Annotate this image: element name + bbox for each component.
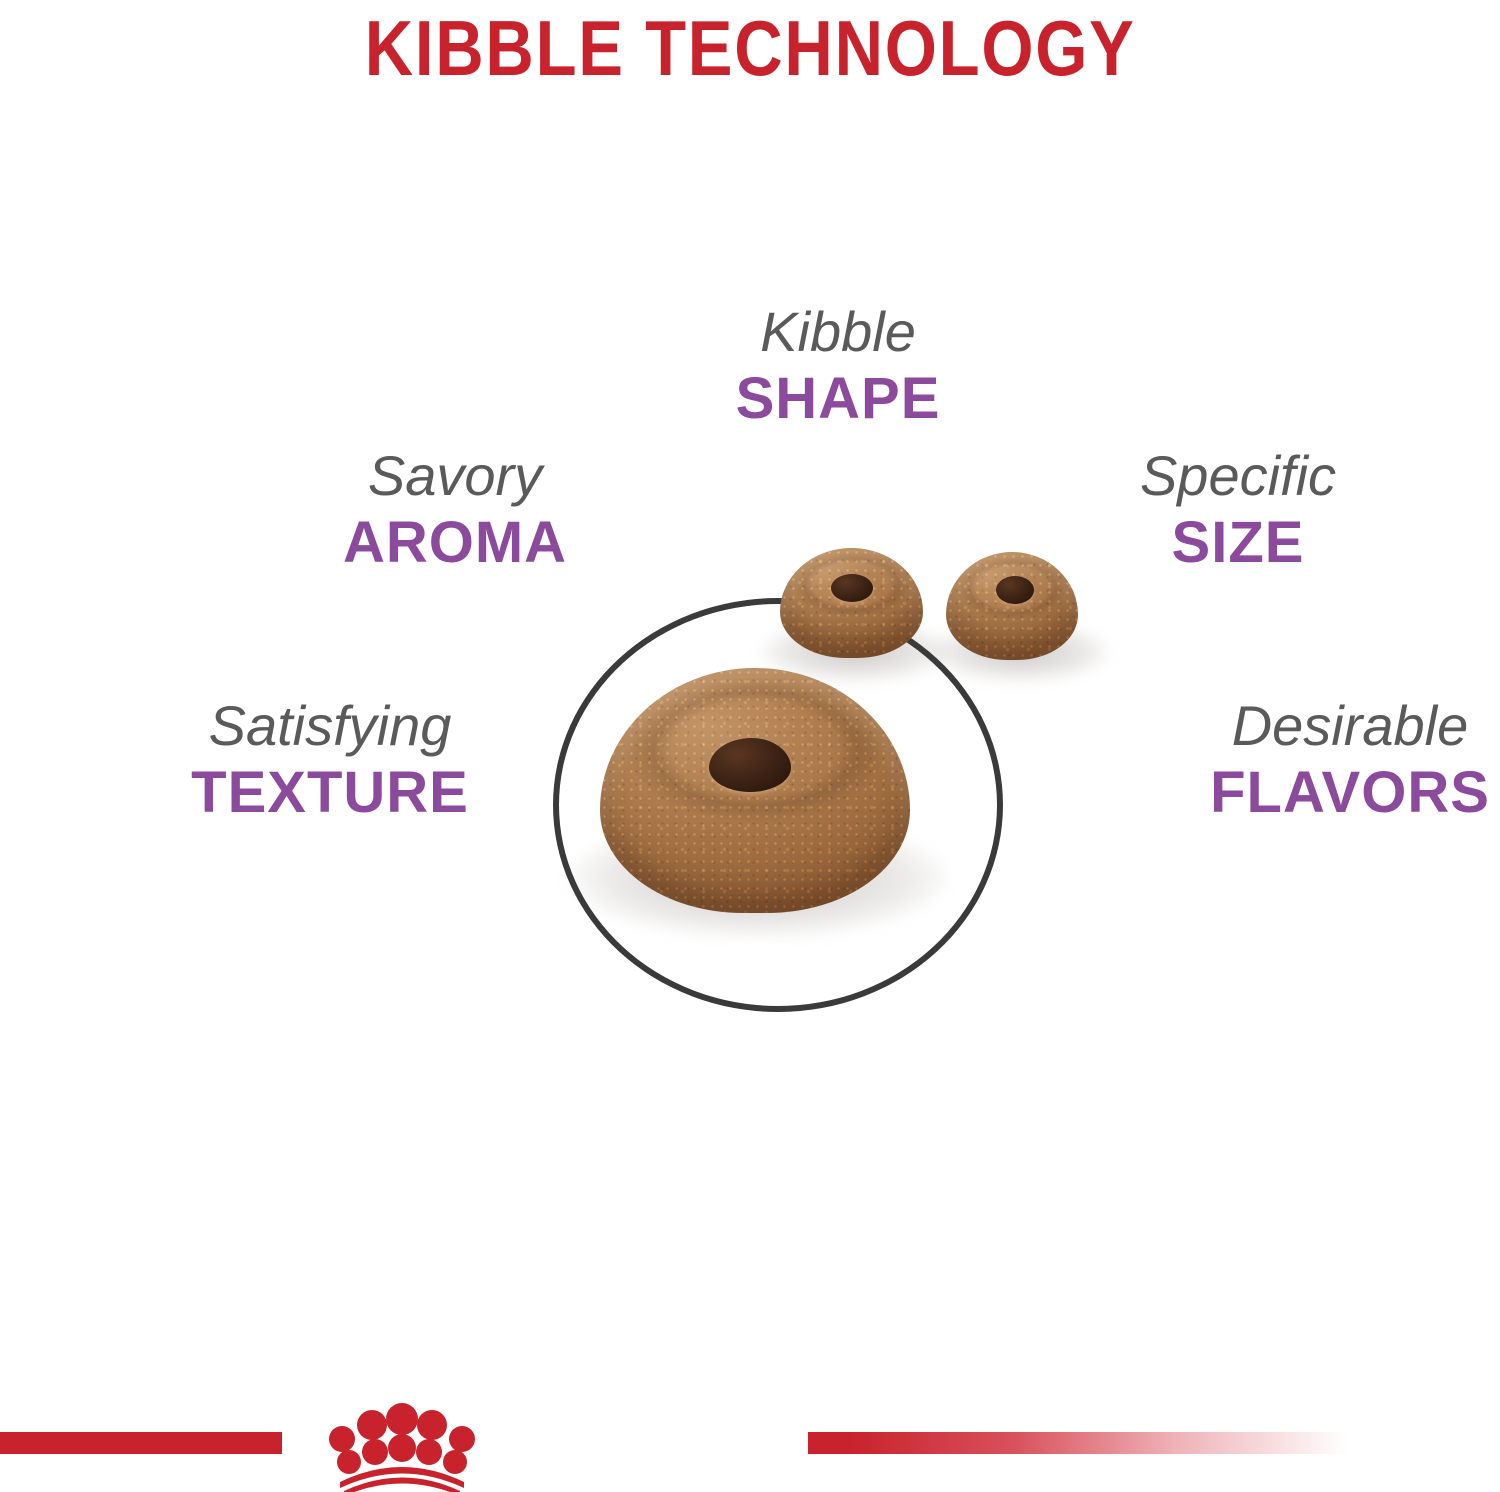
kibble-small-2 bbox=[946, 552, 1078, 660]
feature-label-shape-top: Kibble bbox=[736, 304, 941, 360]
footer bbox=[0, 1392, 1500, 1492]
kibble-small-1-hole bbox=[831, 574, 873, 602]
feature-label-shape-bottom: SHAPE bbox=[736, 370, 941, 428]
title-bar: KIBBLE TECHNOLOGY bbox=[0, 0, 1500, 95]
page-title: KIBBLE TECHNOLOGY bbox=[365, 9, 1136, 87]
feature-label-size-top: Specific bbox=[1140, 448, 1336, 504]
feature-label-aroma-top: Savory bbox=[343, 448, 567, 504]
royal-canin-crown-logo bbox=[302, 1392, 502, 1492]
red-rule-right bbox=[808, 1432, 1348, 1454]
feature-label-shape: Kibble SHAPE bbox=[736, 304, 941, 428]
kibble-small-2-hole bbox=[996, 576, 1034, 604]
red-rule-left bbox=[0, 1432, 282, 1454]
kibble-large-hole bbox=[709, 738, 791, 792]
kibble-small-1 bbox=[780, 548, 923, 658]
kibble-illustration bbox=[0, 500, 1500, 1060]
